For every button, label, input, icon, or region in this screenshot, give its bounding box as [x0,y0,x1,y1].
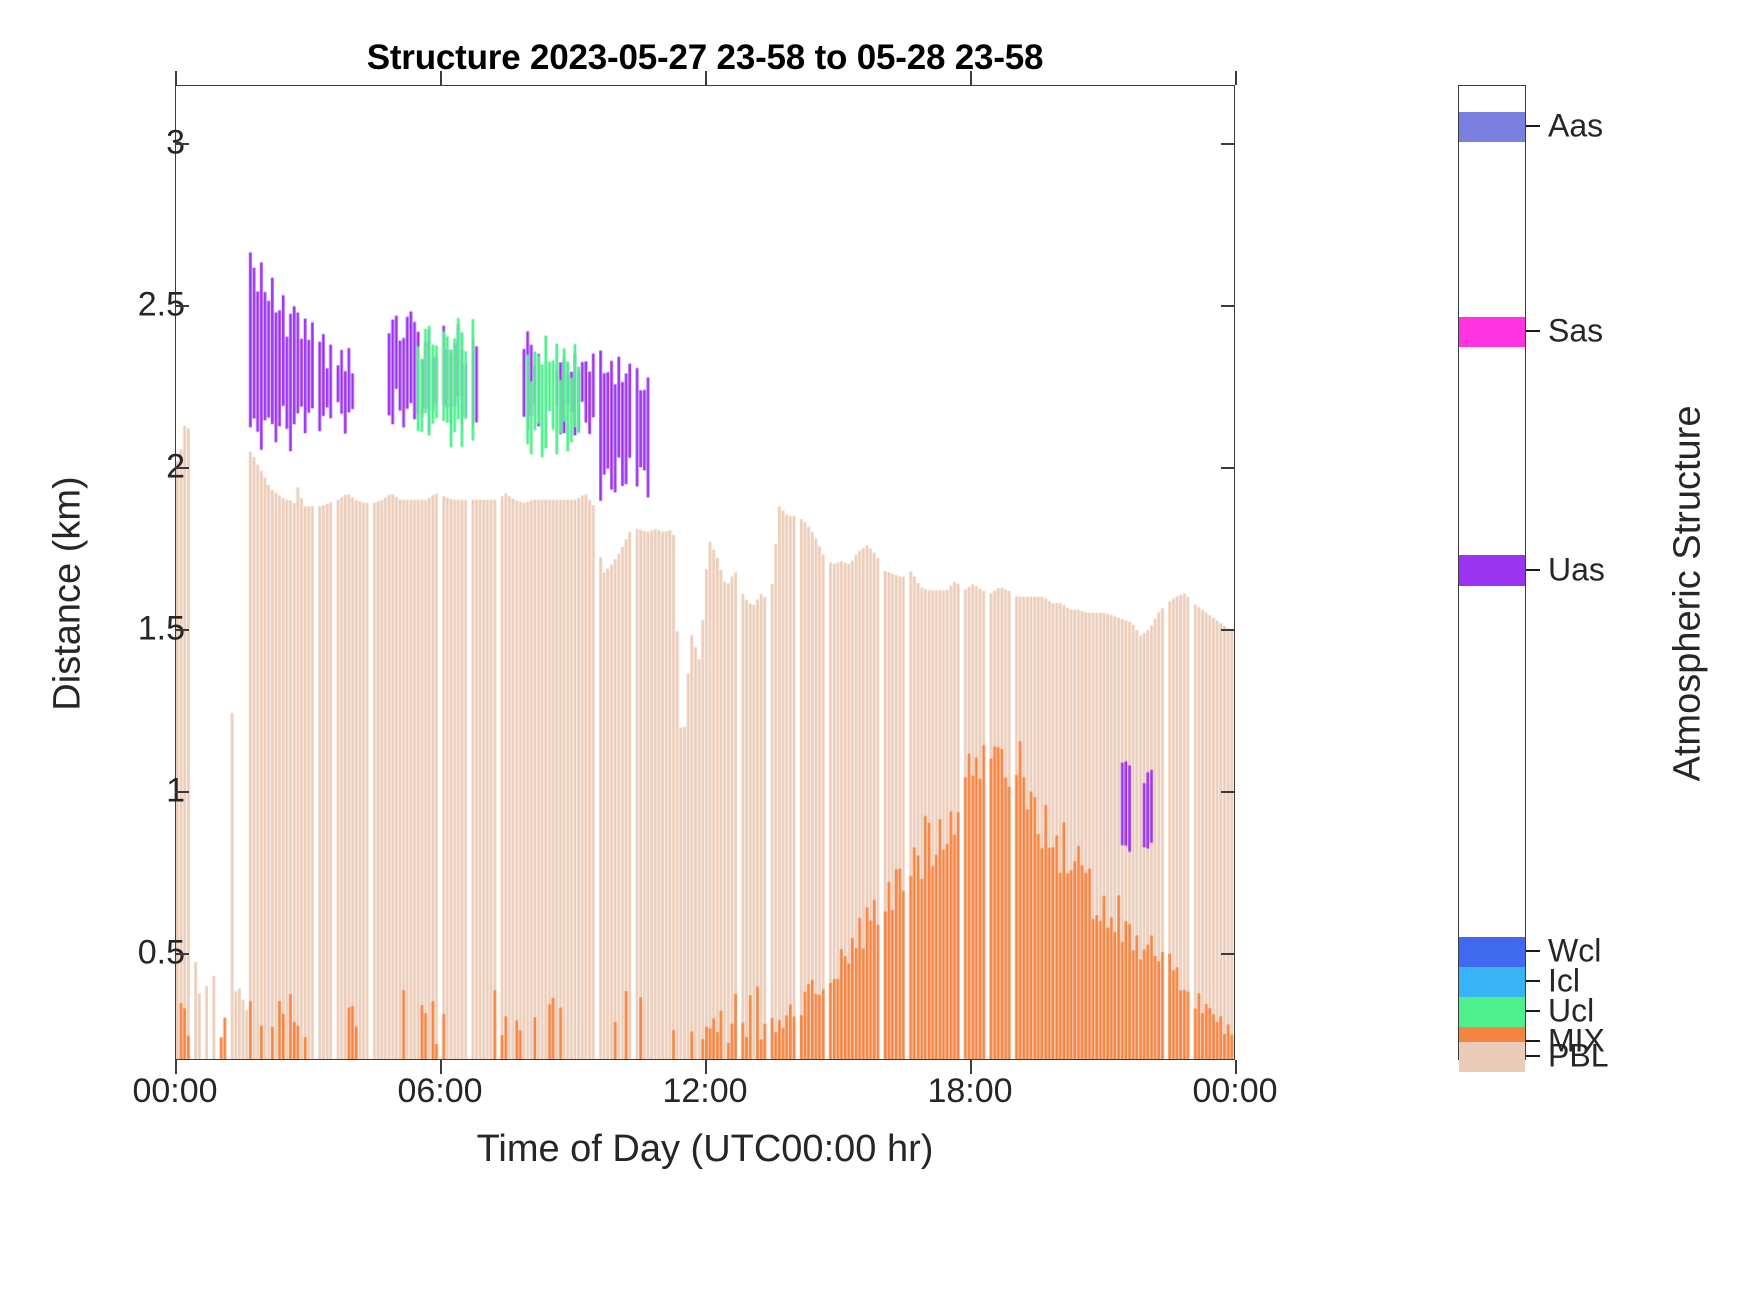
x-axis-label: Time of Day (UTC00:00 hr) [175,1128,1235,1171]
colorbar-segment-wcl [1459,937,1525,967]
y-tick-mark-right [1221,953,1235,955]
y-axis-label: Distance (km) [47,284,90,904]
x-tick-mark [440,1060,442,1074]
colorbar-axis-label: Atmospheric Structure [1667,284,1710,904]
colorbar-tick-pbl [1526,1055,1540,1057]
x-tick-mark-top [970,71,972,85]
colorbar-segment-uas [1459,555,1525,585]
y-tick-mark [175,629,189,631]
x-tick-mark-top [1235,71,1237,85]
x-tick-label: 00:00 [132,1072,217,1111]
y-tick-mark [175,143,189,145]
structure-plot-canvas [176,86,1234,1059]
y-tick-mark [175,305,189,307]
colorbar-label-pbl: PBL [1548,1038,1608,1075]
colorbar-tick-icl [1526,980,1540,982]
colorbar-segment-icl [1459,967,1525,997]
colorbar [1458,85,1526,1060]
colorbar-segment-ucl [1459,997,1525,1027]
colorbar-tick-ucl [1526,1010,1540,1012]
y-tick-mark-right [1221,143,1235,145]
y-tick-mark [175,953,189,955]
colorbar-tick-mix [1526,1040,1540,1042]
x-tick-mark-top [175,71,177,85]
colorbar-tick-aas [1526,125,1540,127]
y-tick-mark [175,791,189,793]
colorbar-segment-pbl [1459,1042,1525,1072]
colorbar-label-uas: Uas [1548,551,1605,588]
y-tick-mark-right [1221,467,1235,469]
x-tick-mark [1235,1060,1237,1074]
colorbar-label-sas: Sas [1548,312,1603,349]
colorbar-tick-wcl [1526,950,1540,952]
x-tick-mark [705,1060,707,1074]
x-tick-label: 18:00 [927,1072,1012,1111]
y-tick-mark [175,467,189,469]
colorbar-segment-aas [1459,112,1525,142]
x-tick-mark-top [440,71,442,85]
x-tick-label: 00:00 [1192,1072,1277,1111]
x-tick-mark [970,1060,972,1074]
colorbar-label-aas: Aas [1548,107,1603,144]
y-tick-mark-right [1221,305,1235,307]
y-tick-mark-right [1221,629,1235,631]
colorbar-tick-uas [1526,569,1540,571]
colorbar-tick-sas [1526,330,1540,332]
plot-area [175,85,1235,1060]
x-tick-mark-top [705,71,707,85]
figure-canvas: Structure 2023-05-27 23-58 to 05-28 23-5… [0,0,1750,1313]
x-tick-mark [175,1060,177,1074]
colorbar-segment-sas [1459,317,1525,347]
y-tick-mark-right [1221,791,1235,793]
x-tick-label: 06:00 [397,1072,482,1111]
x-tick-label: 12:00 [662,1072,747,1111]
